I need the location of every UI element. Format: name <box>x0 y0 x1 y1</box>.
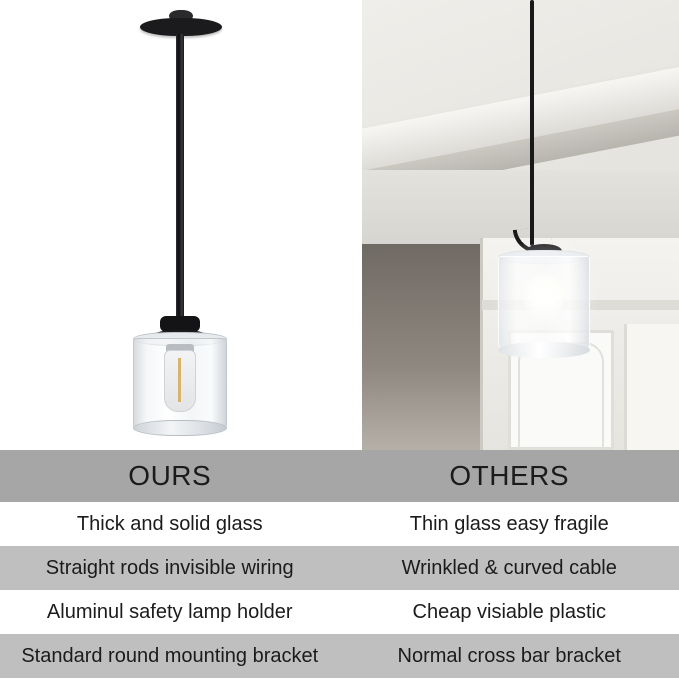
table-row: Thick and solid glass Thin glass easy fr… <box>0 502 679 546</box>
cell-ours: Standard round mounting bracket <box>0 634 340 678</box>
cell-ours: Thick and solid glass <box>0 502 340 546</box>
straight-rod <box>176 34 184 322</box>
cabinet-door-trim <box>518 342 604 450</box>
comparison-table: OURS OTHERS Thick and solid glass Thin g… <box>0 450 679 679</box>
cell-others: Thin glass easy fragile <box>340 502 679 546</box>
header-ours: OURS <box>0 450 340 502</box>
cell-others: Cheap visiable plastic <box>340 590 679 634</box>
cell-ours: Aluminul safety lamp holder <box>0 590 340 634</box>
table-row: Straight rods invisible wiring Wrinkled … <box>0 546 679 590</box>
table-row: Standard round mounting bracket Normal c… <box>0 634 679 678</box>
glass-shade-bottom-rim <box>133 420 227 436</box>
cabinet-door-secondary <box>624 324 679 450</box>
cell-others: Wrinkled & curved cable <box>340 546 679 590</box>
table-header-row: OURS OTHERS <box>0 450 679 502</box>
cell-others: Normal cross bar bracket <box>340 634 679 678</box>
header-others: OTHERS <box>340 450 679 502</box>
cell-ours: Straight rods invisible wiring <box>0 546 340 590</box>
filament <box>178 358 181 402</box>
ours-product-photo <box>0 0 362 450</box>
lit-bulb <box>524 272 564 324</box>
glass-shade-bottom-rim <box>498 342 590 358</box>
hanging-cable <box>530 0 534 246</box>
product-comparison-image: OURS OTHERS Thick and solid glass Thin g… <box>0 0 679 679</box>
others-product-photo <box>362 0 679 450</box>
table-row: Aluminul safety lamp holder Cheap visiab… <box>0 590 679 634</box>
photo-row <box>0 0 679 450</box>
